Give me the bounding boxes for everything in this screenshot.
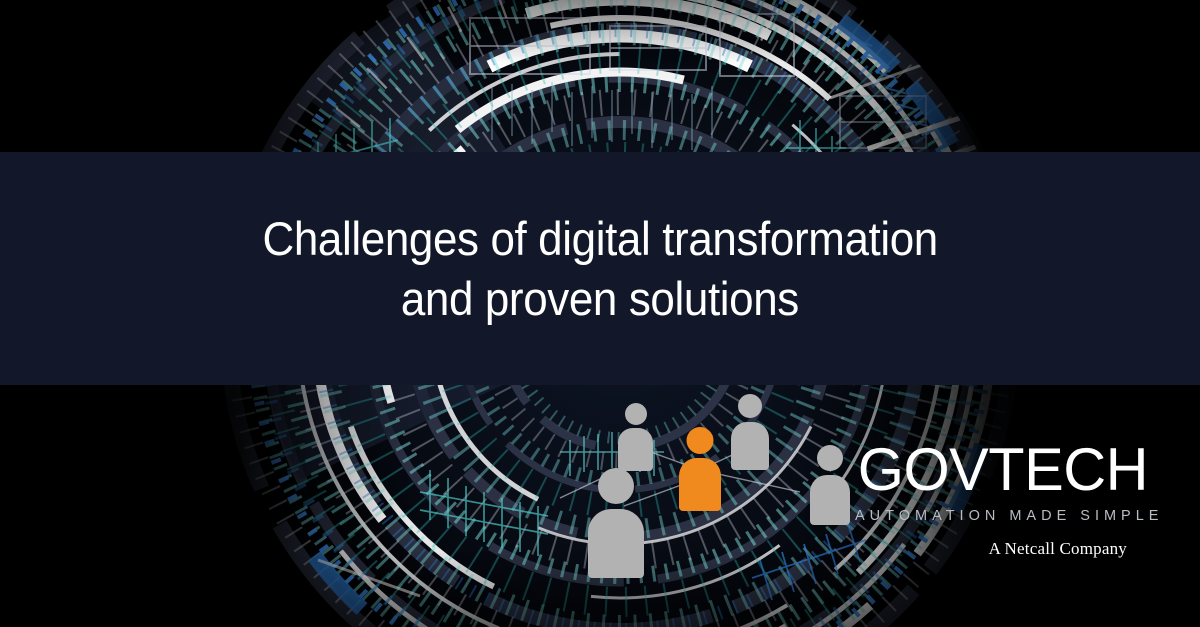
- person-head: [738, 394, 762, 418]
- person-icon-right: [810, 445, 850, 525]
- person-head: [687, 427, 714, 454]
- person-icon-highlighted: [679, 427, 721, 511]
- person-head: [625, 403, 647, 425]
- person-icon-back-right: [731, 394, 769, 470]
- title-line-2: and proven solutions: [401, 269, 799, 328]
- logo-tagline: AUTOMATION MADE SIMPLE: [855, 509, 1130, 524]
- logo-parent-company: A Netcall Company: [855, 540, 1130, 557]
- person-body: [731, 422, 769, 470]
- person-body: [588, 509, 644, 578]
- person-body: [618, 428, 653, 471]
- govtech-logo: GOVTECH AUTOMATION MADE SIMPLE A Netcall…: [855, 440, 1130, 557]
- person-body: [679, 458, 721, 511]
- person-head: [817, 445, 843, 471]
- title-line-1: Challenges of digital transformation: [262, 209, 937, 268]
- title-banner: Challenges of digital transformation and…: [0, 152, 1200, 385]
- person-head: [598, 468, 634, 504]
- person-icon-back-left: [618, 403, 653, 471]
- promotional-banner-image: Challenges of digital transformation and…: [0, 0, 1200, 627]
- logo-wordmark: GOVTECH: [858, 440, 1130, 500]
- person-body: [810, 475, 850, 525]
- person-icon-front-left: [588, 468, 644, 578]
